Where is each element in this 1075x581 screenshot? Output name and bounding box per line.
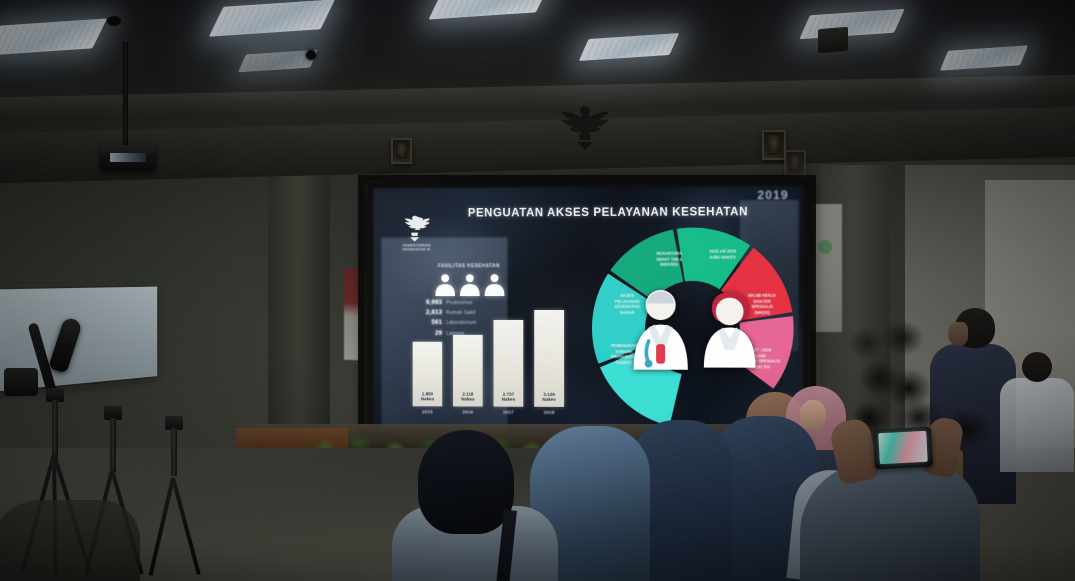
bar-category-label: 2017: [503, 410, 514, 415]
bar-column: 2.737 Nakes 2017: [492, 320, 526, 415]
ministry-flag-emblem: [818, 240, 832, 254]
bar: 2.118 Nakes: [453, 335, 483, 406]
bar-unit-label: Nakes: [421, 397, 434, 403]
bar-unit-label: Nakes: [461, 397, 474, 403]
kemenkes-logo: [400, 213, 429, 243]
framed-portrait: [391, 138, 412, 164]
bar-unit-label: Nakes: [542, 397, 555, 403]
ceiling-speaker: [818, 27, 848, 54]
slide-bar-chart: 1.850 Nakes 2015 2.118 Nakes 2016 2.737: [411, 323, 577, 415]
seated-attendee-body: [1000, 378, 1074, 472]
doctor-icon: [626, 287, 695, 371]
ceiling-sensor: [306, 50, 316, 60]
smartphone-screen[interactable]: [878, 431, 928, 464]
audience-member-head: [418, 430, 514, 534]
indonesian-flag: [344, 268, 359, 361]
bar: 3.126 Nakes: [534, 310, 564, 407]
framed-portrait: [762, 130, 786, 160]
wall-pilaster-left: [268, 150, 330, 440]
presentation-slide: 2019 KEMENTERIAN KESEHATAN RI PENGUATAN …: [373, 186, 802, 434]
donut-center-icons: [645, 287, 742, 372]
bar-category-label: 2018: [544, 410, 555, 415]
tripod-leg: [171, 477, 201, 575]
photo-scene: 2019 KEMENTERIAN KESEHATAN RI PENGUATAN …: [0, 0, 1075, 581]
slide-stats-heading: FASILITAS KESEHATAN: [426, 263, 511, 269]
bar-column: 3.126 Nakes 2018: [532, 310, 566, 415]
bar-category-label: 2015: [422, 409, 433, 414]
audience-member: [0, 500, 140, 581]
bar-column: 1.850 Nakes 2015: [411, 342, 444, 414]
stat-label: Rumah Sakit: [446, 310, 475, 316]
bar-column: 2.118 Nakes 2016: [451, 335, 485, 414]
tripod-leg: [149, 478, 175, 576]
tripod-column: [171, 428, 177, 476]
slide-year-badge: 2019: [757, 188, 788, 202]
ceiling-sensor: [338, 54, 343, 59]
standing-attendee-face: [948, 322, 968, 346]
kemenkes-label: KEMENTERIAN KESEHATAN RI: [391, 243, 442, 251]
ministry-flag: [812, 204, 842, 332]
projector-drop-rod: [123, 42, 128, 147]
stat-row: 2,813 Rumah Sakit: [413, 309, 528, 316]
main-projection-screen: 2019 KEMENTERIAN KESEHATAN RI PENGUATAN …: [369, 181, 808, 440]
stat-label: Puskesmas: [446, 300, 472, 306]
seated-attendee-head: [1022, 352, 1052, 382]
bar: 1.850 Nakes: [413, 342, 443, 406]
person-icon: [434, 273, 456, 297]
tripod-column: [110, 418, 116, 472]
bar-unit-label: Nakes: [502, 397, 515, 403]
camera-body: [4, 368, 38, 396]
attendee-filming-with-phone: [800, 462, 980, 581]
camera-tripod: [140, 428, 208, 578]
stat-value: 9,993: [413, 299, 443, 306]
bar-category-label: 2016: [462, 409, 473, 414]
seated-attendee-face: [800, 400, 826, 430]
stat-value: 2,813: [413, 309, 443, 316]
stat-row: 9,993 Puskesmas: [413, 299, 528, 306]
bar: 2.737 Nakes: [494, 320, 524, 407]
garuda-pancasila-emblem: [557, 102, 613, 154]
person-icon: [459, 273, 481, 297]
projector-ceiling-mount: [107, 16, 121, 26]
slide-title: PENGUATAN AKSES PELAYANAN KESEHATAN: [468, 206, 793, 219]
person-icon: [484, 273, 506, 297]
people-group-icons: [424, 271, 515, 297]
ceiling-projector: [100, 145, 156, 171]
tripod-column: [52, 400, 58, 460]
framed-portrait: [784, 150, 806, 176]
patient-icon: [697, 287, 762, 372]
